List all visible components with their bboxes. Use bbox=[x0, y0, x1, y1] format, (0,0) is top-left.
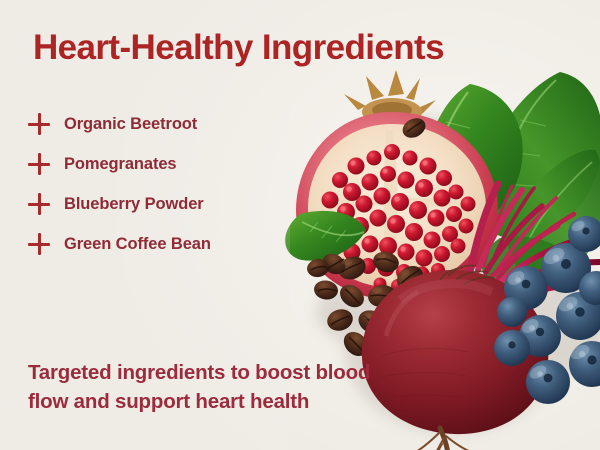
ingredient-label: Green Coffee Bean bbox=[64, 235, 211, 254]
plus-icon bbox=[28, 113, 50, 135]
list-item: Pomegranates bbox=[28, 144, 328, 184]
ingredient-label: Organic Beetroot bbox=[64, 115, 197, 134]
heart-healthy-ingredients-banner: Heart-Healthy Ingredients Organic Beetro… bbox=[0, 0, 600, 450]
page-title: Heart-Healthy Ingredients bbox=[33, 28, 444, 68]
tagline-line-1: Targeted ingredients to boost blood bbox=[28, 358, 370, 387]
plus-icon bbox=[28, 233, 50, 255]
list-item: Green Coffee Bean bbox=[28, 224, 328, 264]
tagline: Targeted ingredients to boost blood flow… bbox=[28, 358, 370, 416]
tagline-line-2: flow and support heart health bbox=[28, 387, 370, 416]
list-item: Organic Beetroot bbox=[28, 104, 328, 144]
plus-icon bbox=[28, 193, 50, 215]
plus-icon bbox=[28, 153, 50, 175]
ingredient-label: Blueberry Powder bbox=[64, 195, 204, 214]
ingredient-label: Pomegranates bbox=[64, 155, 177, 174]
ingredient-list: Organic Beetroot Pomegranates Blueberry … bbox=[28, 104, 328, 264]
list-item: Blueberry Powder bbox=[28, 184, 328, 224]
